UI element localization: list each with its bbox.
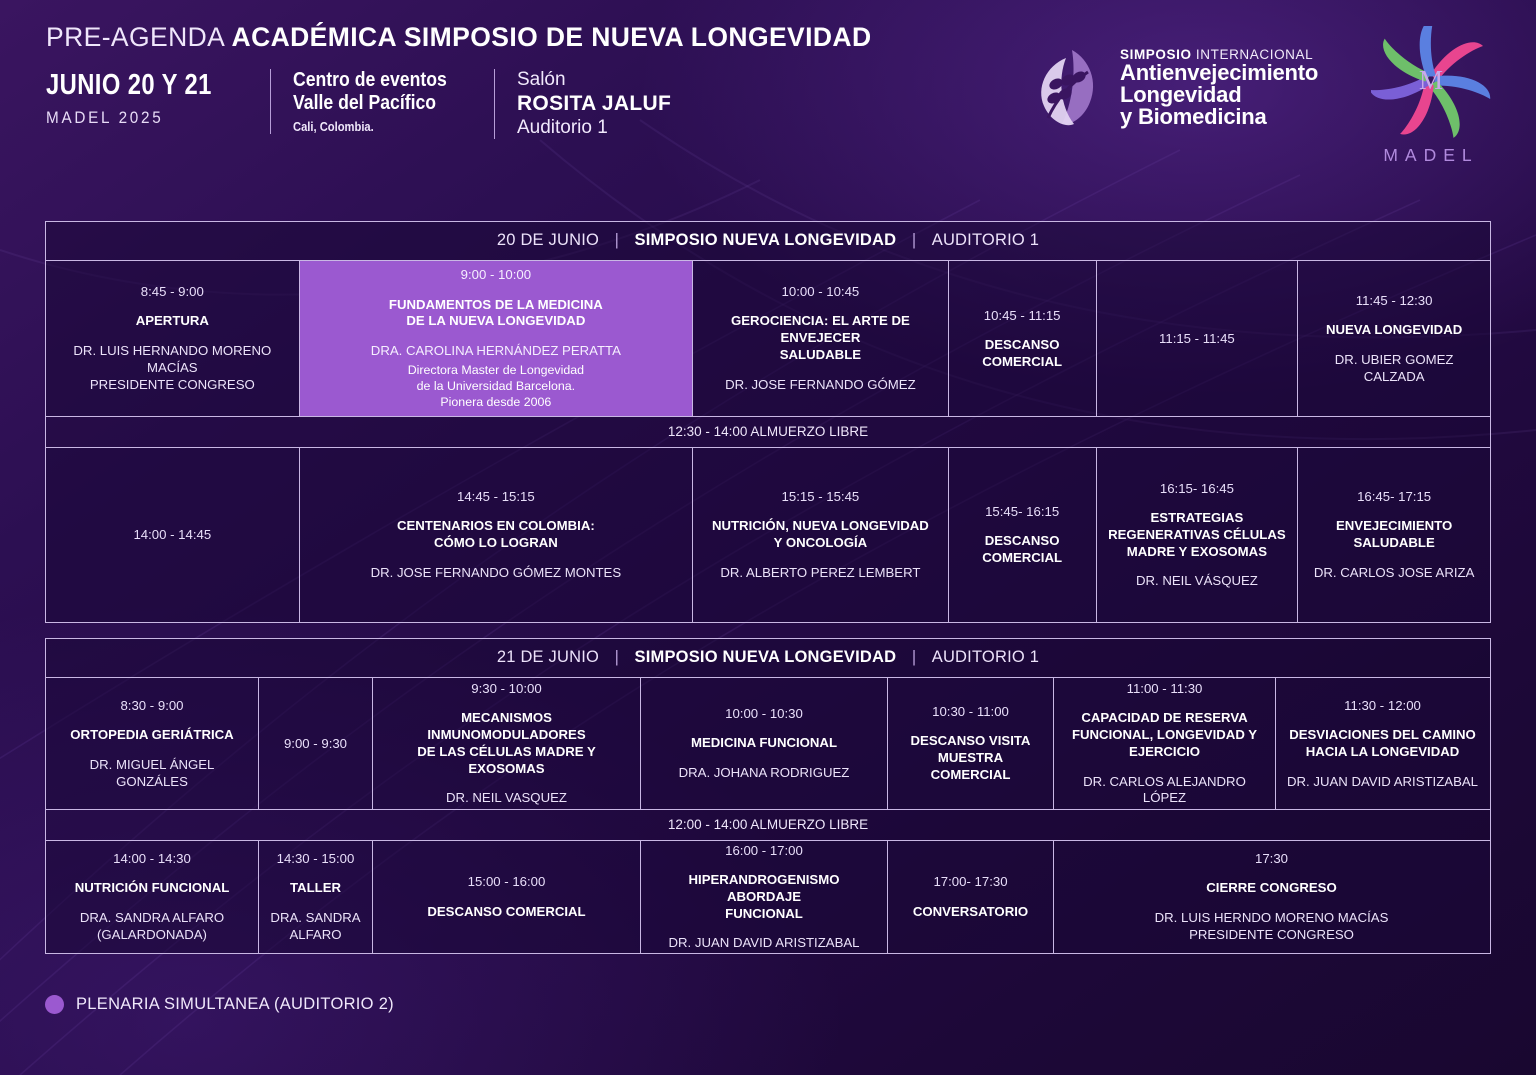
session-time: 14:45 - 15:15 xyxy=(457,488,535,505)
session-title: HIPERANDROGENISMO ABORDAJE FUNCIONAL xyxy=(650,872,878,923)
session-speaker: DR. ALBERTO PEREZ LEMBERT xyxy=(720,565,920,582)
madel-spiral-icon: M xyxy=(1371,26,1491,138)
simposio-logo: SIMPOSIO INTERNACIONAL Antienvejecimient… xyxy=(1032,44,1318,132)
session-cell[interactable]: 10:45 - 11:15 DESCANSO COMERCIAL xyxy=(949,261,1097,416)
session-speaker: DR. JOSE FERNANDO GÓMEZ xyxy=(725,377,916,394)
session-time: 15:45- 16:15 xyxy=(985,503,1059,520)
session-cell[interactable]: 8:45 - 9:00 APERTURA DR. LUIS HERNANDO M… xyxy=(46,261,300,416)
session-time: 17:00- 17:30 xyxy=(933,873,1007,890)
simposio-logo-line2: Antienvejecimiento xyxy=(1120,62,1318,84)
session-cell[interactable]: 11:30 - 12:00 DESVIACIONES DEL CAMINO HA… xyxy=(1276,678,1489,809)
session-cell[interactable]: 11:00 - 11:30 CAPACIDAD DE RESERVA FUNCI… xyxy=(1054,678,1276,809)
day2-date: 21 DE JUNIO xyxy=(497,648,599,666)
session-time: 11:00 - 11:30 xyxy=(1127,680,1203,697)
day1-lunch-bar: 12:30 - 14:00 ALMUERZO LIBRE xyxy=(46,416,1490,448)
simposio-logo-line4: y Biomedicina xyxy=(1120,106,1318,128)
session-cell[interactable]: 16:45- 17:15 ENVEJECIMIENTO SALUDABLE DR… xyxy=(1298,448,1490,622)
session-time: 10:00 - 10:30 xyxy=(725,705,803,722)
venue-city: Cali, Colombia. xyxy=(293,119,447,134)
header-venue-block: Centro de eventos Valle del Pacífico Cal… xyxy=(270,69,494,134)
session-speaker: DR. MIGUEL ÁNGEL GONZÁLES xyxy=(55,757,249,791)
session-cell[interactable]: 15:15 - 15:45 NUTRICIÓN, NUEVA LONGEVIDA… xyxy=(693,448,949,622)
session-cell[interactable]: 16:15- 16:45 ESTRATEGIAS REGENERATIVAS C… xyxy=(1097,448,1299,622)
session-time: 15:00 - 16:00 xyxy=(468,873,546,890)
simposio-logo-line3: Longevidad xyxy=(1120,84,1318,106)
session-time: 8:30 - 9:00 xyxy=(120,697,183,714)
day1-morning-row: 8:45 - 9:00 APERTURA DR. LUIS HERNANDO M… xyxy=(46,261,1490,416)
session-cell[interactable]: 11:15 - 11:45 xyxy=(1097,261,1299,416)
session-title: NUTRICIÓN, NUEVA LONGEVIDAD Y ONCOLOGÍA xyxy=(712,518,929,552)
session-cell[interactable]: 14:30 - 15:00 TALLER DRA. SANDRA ALFARO xyxy=(259,841,373,953)
session-title: DESCANSO COMERCIAL xyxy=(427,904,585,921)
event-edition: MADEL 2025 xyxy=(46,108,228,128)
session-time: 11:15 - 11:45 xyxy=(1159,330,1235,347)
session-time: 9:00 - 10:00 xyxy=(461,266,531,283)
session-title: APERTURA xyxy=(136,313,209,330)
session-title: NUEVA LONGEVIDAD xyxy=(1326,322,1462,339)
day2-afternoon-row: 14:00 - 14:30 NUTRICIÓN FUNCIONAL DRA. S… xyxy=(46,841,1490,953)
session-cell[interactable]: 14:00 - 14:45 xyxy=(46,448,300,622)
page-title-prefix: PRE-AGENDA xyxy=(46,22,224,52)
day2-divider-1: | xyxy=(604,648,630,666)
schedule-table-day-1: 20 DE JUNIO | SIMPOSIO NUEVA LONGEVIDAD … xyxy=(45,221,1491,623)
day2-divider-2: | xyxy=(901,648,927,666)
session-time: 15:15 - 15:45 xyxy=(782,488,860,505)
hall-name: ROSITA JALUF xyxy=(517,92,671,116)
session-time: 14:00 - 14:30 xyxy=(113,850,191,867)
session-time: 17:30 xyxy=(1255,850,1288,867)
venue-name-line1: Centro de eventos xyxy=(293,69,447,92)
madel-monogram: M xyxy=(1419,65,1443,95)
session-cell[interactable]: 14:00 - 14:30 NUTRICIÓN FUNCIONAL DRA. S… xyxy=(46,841,259,953)
header-hall-block: Salón ROSITA JALUF Auditorio 1 xyxy=(494,69,693,139)
day1-afternoon-row: 14:00 - 14:45 14:45 - 15:15 CENTENARIOS … xyxy=(46,448,1490,622)
session-note: Directora Master de Longevidad de la Uni… xyxy=(408,362,584,410)
day1-auditorium: AUDITORIO 1 xyxy=(932,231,1039,249)
session-speaker: DR. JOSE FERNANDO GÓMEZ MONTES xyxy=(371,565,622,582)
session-title: CONVERSATORIO xyxy=(913,904,1028,921)
venue-name-line2: Valle del Pacífico xyxy=(293,92,447,115)
day1-track-name: SIMPOSIO NUEVA LONGEVIDAD xyxy=(635,231,897,249)
session-title: CENTENARIOS EN COLOMBIA: CÓMO LO LOGRAN xyxy=(397,518,595,552)
session-cell[interactable]: 15:45- 16:15 DESCANSO COMERCIAL xyxy=(949,448,1097,622)
day1-date: 20 DE JUNIO xyxy=(497,231,599,249)
madel-logo: M MADEL xyxy=(1366,26,1496,166)
session-time: 8:45 - 9:00 xyxy=(141,283,204,300)
session-title: DESVIACIONES DEL CAMINO HACIA LA LONGEVI… xyxy=(1289,727,1476,761)
legend: PLENARIA SIMULTANEA (AUDITORIO 2) xyxy=(45,995,394,1014)
session-cell[interactable]: 11:45 - 12:30 NUEVA LONGEVIDAD DR. UBIER… xyxy=(1298,261,1490,416)
hall-auditorium: Auditorio 1 xyxy=(517,117,671,139)
session-cell[interactable]: 17:30 CIERRE CONGRESO DR. LUIS HERNDO MO… xyxy=(1054,841,1489,953)
session-cell[interactable]: 15:00 - 16:00 DESCANSO COMERCIAL xyxy=(373,841,641,953)
session-cell[interactable]: 9:30 - 10:00 MECANISMOS INMUNOMODULADORE… xyxy=(373,678,641,809)
session-cell[interactable]: 9:00 - 9:30 xyxy=(259,678,373,809)
day2-track-name: SIMPOSIO NUEVA LONGEVIDAD xyxy=(635,648,897,666)
day1-divider-1: | xyxy=(604,231,630,249)
session-speaker: DR. JUAN DAVID ARISTIZABAL xyxy=(1287,774,1478,791)
session-cell[interactable]: 10:00 - 10:30 MEDICINA FUNCIONAL DRA. JO… xyxy=(641,678,888,809)
session-title: DESCANSO COMERCIAL xyxy=(982,533,1062,567)
session-cell[interactable]: 14:45 - 15:15 CENTENARIOS EN COLOMBIA: C… xyxy=(300,448,693,622)
session-speaker: DR. LUIS HERNANDO MORENO MACÍAS PRESIDEN… xyxy=(55,343,290,394)
session-speaker: DRA. JOHANA RODRIGUEZ xyxy=(679,765,850,782)
session-title: DESCANSO COMERCIAL xyxy=(982,337,1062,371)
session-time: 16:15- 16:45 xyxy=(1160,480,1234,497)
day2-morning-row: 8:30 - 9:00 ORTOPEDIA GERIÁTRICA DR. MIG… xyxy=(46,678,1490,809)
session-cell[interactable]: 10:30 - 11:00 DESCANSO VISITA MUESTRA CO… xyxy=(888,678,1054,809)
session-cell[interactable]: 10:00 - 10:45 GEROCIENCIA: EL ARTE DE EN… xyxy=(693,261,949,416)
session-cell[interactable]: 16:00 - 17:00 HIPERANDROGENISMO ABORDAJE… xyxy=(641,841,888,953)
session-title: CAPACIDAD DE RESERVA FUNCIONAL, LONGEVID… xyxy=(1072,710,1257,761)
day1-divider-2: | xyxy=(901,231,927,249)
hall-label: Salón xyxy=(517,69,671,91)
header-date-block: JUNIO 20 Y 21 MADEL 2025 xyxy=(46,69,270,128)
session-title: NUTRICIÓN FUNCIONAL xyxy=(75,880,230,897)
session-time: 14:00 - 14:45 xyxy=(133,526,211,543)
session-cell[interactable]: 8:30 - 9:00 ORTOPEDIA GERIÁTRICA DR. MIG… xyxy=(46,678,259,809)
simposio-logo-text: SIMPOSIO INTERNACIONAL Antienvejecimient… xyxy=(1120,48,1318,128)
day2-auditorium: AUDITORIO 1 xyxy=(932,648,1039,666)
page-title-main: ACADÉMICA SIMPOSIO DE NUEVA LONGEVIDAD xyxy=(232,22,872,52)
day2-lunch-bar: 12:00 - 14:00 ALMUERZO LIBRE xyxy=(46,809,1490,841)
session-time: 9:00 - 9:30 xyxy=(284,735,347,752)
session-title: MEDICINA FUNCIONAL xyxy=(691,735,837,752)
session-title: ORTOPEDIA GERIÁTRICA xyxy=(70,727,233,744)
session-time: 9:30 - 10:00 xyxy=(471,680,541,697)
session-time: 16:00 - 17:00 xyxy=(725,842,803,859)
session-time: 10:45 - 11:15 xyxy=(984,307,1061,324)
session-title: GEROCIENCIA: EL ARTE DE ENVEJECER SALUDA… xyxy=(702,313,939,364)
session-title: DESCANSO VISITA MUESTRA COMERCIAL xyxy=(897,733,1044,784)
leaf-flower-icon xyxy=(1032,44,1110,132)
session-time: 10:00 - 10:45 xyxy=(782,283,860,300)
schedule-table-day-2: 21 DE JUNIO | SIMPOSIO NUEVA LONGEVIDAD … xyxy=(45,638,1491,954)
session-cell-plenary[interactable]: 9:00 - 10:00 FUNDAMENTOS DE LA MEDICINA … xyxy=(300,261,693,416)
session-time: 10:30 - 11:00 xyxy=(932,703,1009,720)
session-speaker: DRA. CAROLINA HERNÁNDEZ PERATTA xyxy=(371,343,621,360)
session-speaker: DR. NEIL VÁSQUEZ xyxy=(1136,573,1258,590)
session-title: ESTRATEGIAS REGENERATIVAS CÉLULAS MADRE … xyxy=(1108,510,1286,561)
event-dates: JUNIO 20 Y 21 xyxy=(46,69,212,102)
session-speaker: DR. NEIL VASQUEZ xyxy=(446,790,567,807)
session-time: 11:45 - 12:30 xyxy=(1356,292,1433,309)
session-speaker: DRA. SANDRA ALFARO (GALARDONADA) xyxy=(80,910,224,944)
day2-band: 21 DE JUNIO | SIMPOSIO NUEVA LONGEVIDAD … xyxy=(46,639,1490,678)
session-time: 16:45- 17:15 xyxy=(1357,488,1431,505)
session-title: TALLER xyxy=(290,880,341,897)
session-time: 14:30 - 15:00 xyxy=(277,850,355,867)
session-speaker: DRA. SANDRA ALFARO xyxy=(270,910,360,944)
session-speaker: DR. JUAN DAVID ARISTIZABAL xyxy=(668,935,859,952)
madel-wordmark: MADEL xyxy=(1366,145,1496,166)
legend-color-dot-icon xyxy=(45,995,64,1014)
session-title: FUNDAMENTOS DE LA MEDICINA DE LA NUEVA L… xyxy=(389,297,603,331)
session-title: MECANISMOS INMUNOMODULADORES DE LAS CÉLU… xyxy=(382,710,631,778)
session-speaker: DR. CARLOS JOSE ARIZA xyxy=(1314,565,1474,582)
session-speaker: DR. CARLOS ALEJANDRO LÓPEZ xyxy=(1063,774,1266,808)
session-speaker: DR. UBIER GOMEZ CALZADA xyxy=(1307,352,1481,386)
session-time: 11:30 - 12:00 xyxy=(1344,697,1421,714)
session-speaker: DR. LUIS HERNDO MORENO MACÍAS PRESIDENTE… xyxy=(1155,910,1389,944)
session-cell[interactable]: 17:00- 17:30 CONVERSATORIO xyxy=(888,841,1054,953)
session-title: CIERRE CONGRESO xyxy=(1206,880,1336,897)
session-title: ENVEJECIMIENTO SALUDABLE xyxy=(1336,518,1452,552)
day1-band: 20 DE JUNIO | SIMPOSIO NUEVA LONGEVIDAD … xyxy=(46,222,1490,261)
legend-label: PLENARIA SIMULTANEA (AUDITORIO 2) xyxy=(76,995,394,1014)
